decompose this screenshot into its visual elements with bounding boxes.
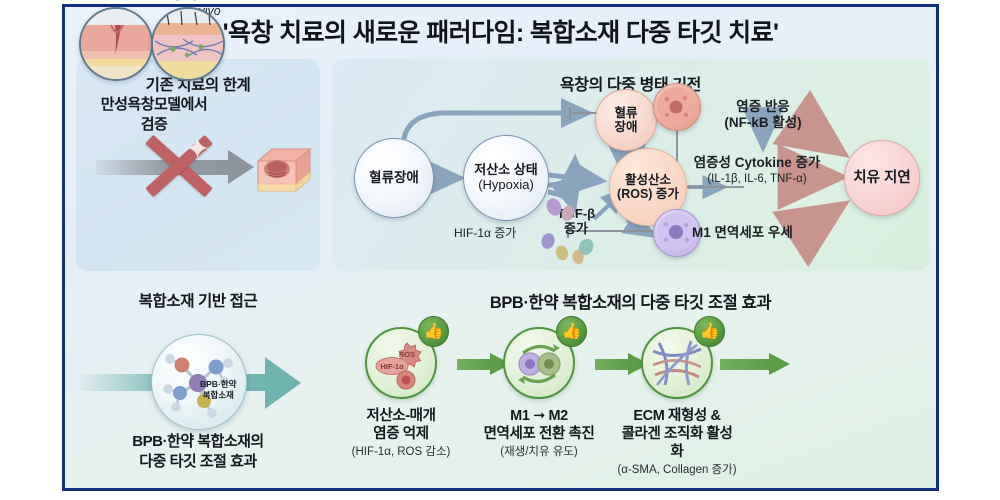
label-cytokine-sub: (IL-1β, IL-6, TNF-α) [672,172,842,186]
composite-approach-caption: BPB·한약 복합소재의 다중 타깃 조절 효과 [71,432,325,472]
sparkle-icon: ✦ [185,135,210,165]
node-ros-line1: 활성산소 [625,173,671,187]
healed-skin-layers-icon [151,7,225,81]
tgf-beta-particles-icon [542,199,612,261]
final-validation-title: 만성욕창모델에서 검증 [65,95,243,134]
label-cytokine-increase: 염증성 Cytokine 증가 (IL-1β, IL-6, TNF-α) [672,155,842,186]
label-inflammatory-response-line1: 염증 반응 [688,99,838,115]
step-ecm-collagen-remodeling[interactable]: 👍 ECM 재형성 & 콜라겐 조직화 활성화 (α-SMA, Collagen… [617,327,737,478]
step-macrophage-polarization[interactable]: 👍 M1 ➞ M2 면역세포 전환 촉진 (재생/치유 유도) [479,327,599,460]
step1-circle: ROS HIF-1α 👍 [365,327,437,399]
step1-title: 저산소-매개 염증 억제 [341,407,461,443]
step2-title-line1: M1 ➞ M2 [479,407,599,425]
node-perfusion-impairment-line1: 혈류 [614,106,637,120]
node-blood-flow-disorder-label: 혈류장애 [369,170,419,185]
thumbs-up-icon: 👍 [418,316,449,347]
ecm-collagen-fibers-icon [649,335,705,391]
label-hif1a-increase: HIF-1α 증가 [454,227,516,241]
step1-title-line2: 염증 억제 [341,425,461,443]
molecule-sphere-label: BPB·한약 복합소재 [200,379,236,400]
step-arrow-3 [720,354,794,374]
label-inflammatory-response-line2: (NF-kB 활성) [688,115,838,131]
step3-title-line2: 콜라겐 조직화 활성화 [617,425,737,461]
composite-caption-line1: BPB·한약 복합소재의 [71,432,325,452]
svg-text:HIF-1α: HIF-1α [380,362,404,371]
wound-tissue-block-icon [254,145,312,197]
node-healing-delay-label: 치유 지연 [853,170,910,186]
step3-title: ECM 재형성 & 콜라겐 조직화 활성화 [617,407,737,461]
step2-subtitle: (재생/치유 유도) [479,446,599,460]
label-inflammatory-response: 염증 반응 (NF-kB 활성) [688,99,838,131]
step1-subtitle: (HIF-1α, ROS 감소) [341,446,461,460]
gray-right-arrow-head [228,150,254,184]
final-title-line2: 검증 [65,115,243,135]
composite-approach-heading: 복합소재 기반 접근 [76,289,320,311]
step-hypoxia-inflammation-suppression[interactable]: ROS HIF-1α 👍 저산소-매개 염증 억제 (HIF-1α, ROS 감… [341,327,461,460]
teal-right-arrow-head [265,357,301,409]
thumbs-up-icon: 👍 [694,316,725,347]
node-ros-line2: (ROS) 증가 [617,187,679,201]
node-perfusion-impairment[interactable]: 혈류 장애 [595,89,657,151]
mouse-icon [161,0,215,3]
step2-title: M1 ➞ M2 면역세포 전환 촉진 [479,407,599,443]
label-m1-dominance: M1 면역세포 우세 [692,225,793,241]
node-hypoxia[interactable]: 저산소 상태 (Hypoxia) [463,135,549,221]
label-cytokine-main: 염증성 Cytokine 증가 [672,155,842,172]
molecule-label-line1: BPB·한약 [200,379,236,390]
composite-caption-line2: 다중 타깃 조절 효과 [71,452,325,472]
step1-title-line1: 저산소-매개 [341,407,461,425]
multi-target-effects-heading: BPB·한약 복합소재의 다중 타깃 조절 효과 [332,289,929,313]
node-perfusion-impairment-line2: 장애 [614,120,637,134]
hypoxia-inhibition-icon: ROS HIF-1α [373,335,429,391]
svg-text:ROS: ROS [399,350,415,359]
step3-title-line1: ECM 재형성 & [617,407,737,425]
molecule-sphere[interactable]: BPB·한약 복합소재 [151,334,247,430]
step2-title-line2: 면역세포 전환 촉진 [479,425,599,443]
infographic-root: '욕창 치료의 새로운 패러다임: 복합소재 다중 타깃 치료' 기존 치료의 … [0,0,1000,500]
node-hypoxia-label: 저산소 상태 [474,163,537,178]
macrophage-polarization-icon [511,335,567,391]
panel-pathophysiology-mechanism: 욕창의 다중 병태 기전 [332,59,929,271]
node-blood-flow-disorder[interactable]: 혈류장애 [354,138,434,218]
wound-cross-section-icon [79,7,153,81]
molecule-label-line2: 복합소재 [200,390,236,401]
step3-subtitle: (α-SMA, Collagen 증가) [617,464,737,478]
final-title-line1: 만성욕창모델에서 [65,95,243,115]
node-healing-delay[interactable]: 치유 지연 [844,140,920,216]
step3-circle: 👍 [641,327,713,399]
step2-circle: 👍 [503,327,575,399]
node-hypoxia-sublabel: (Hypoxia) [478,178,534,193]
poster-frame: '욕창 치료의 새로운 패러다임: 복합소재 다중 타깃 치료' 기존 치료의 … [62,4,939,491]
thumbs-up-icon: 👍 [556,316,587,347]
